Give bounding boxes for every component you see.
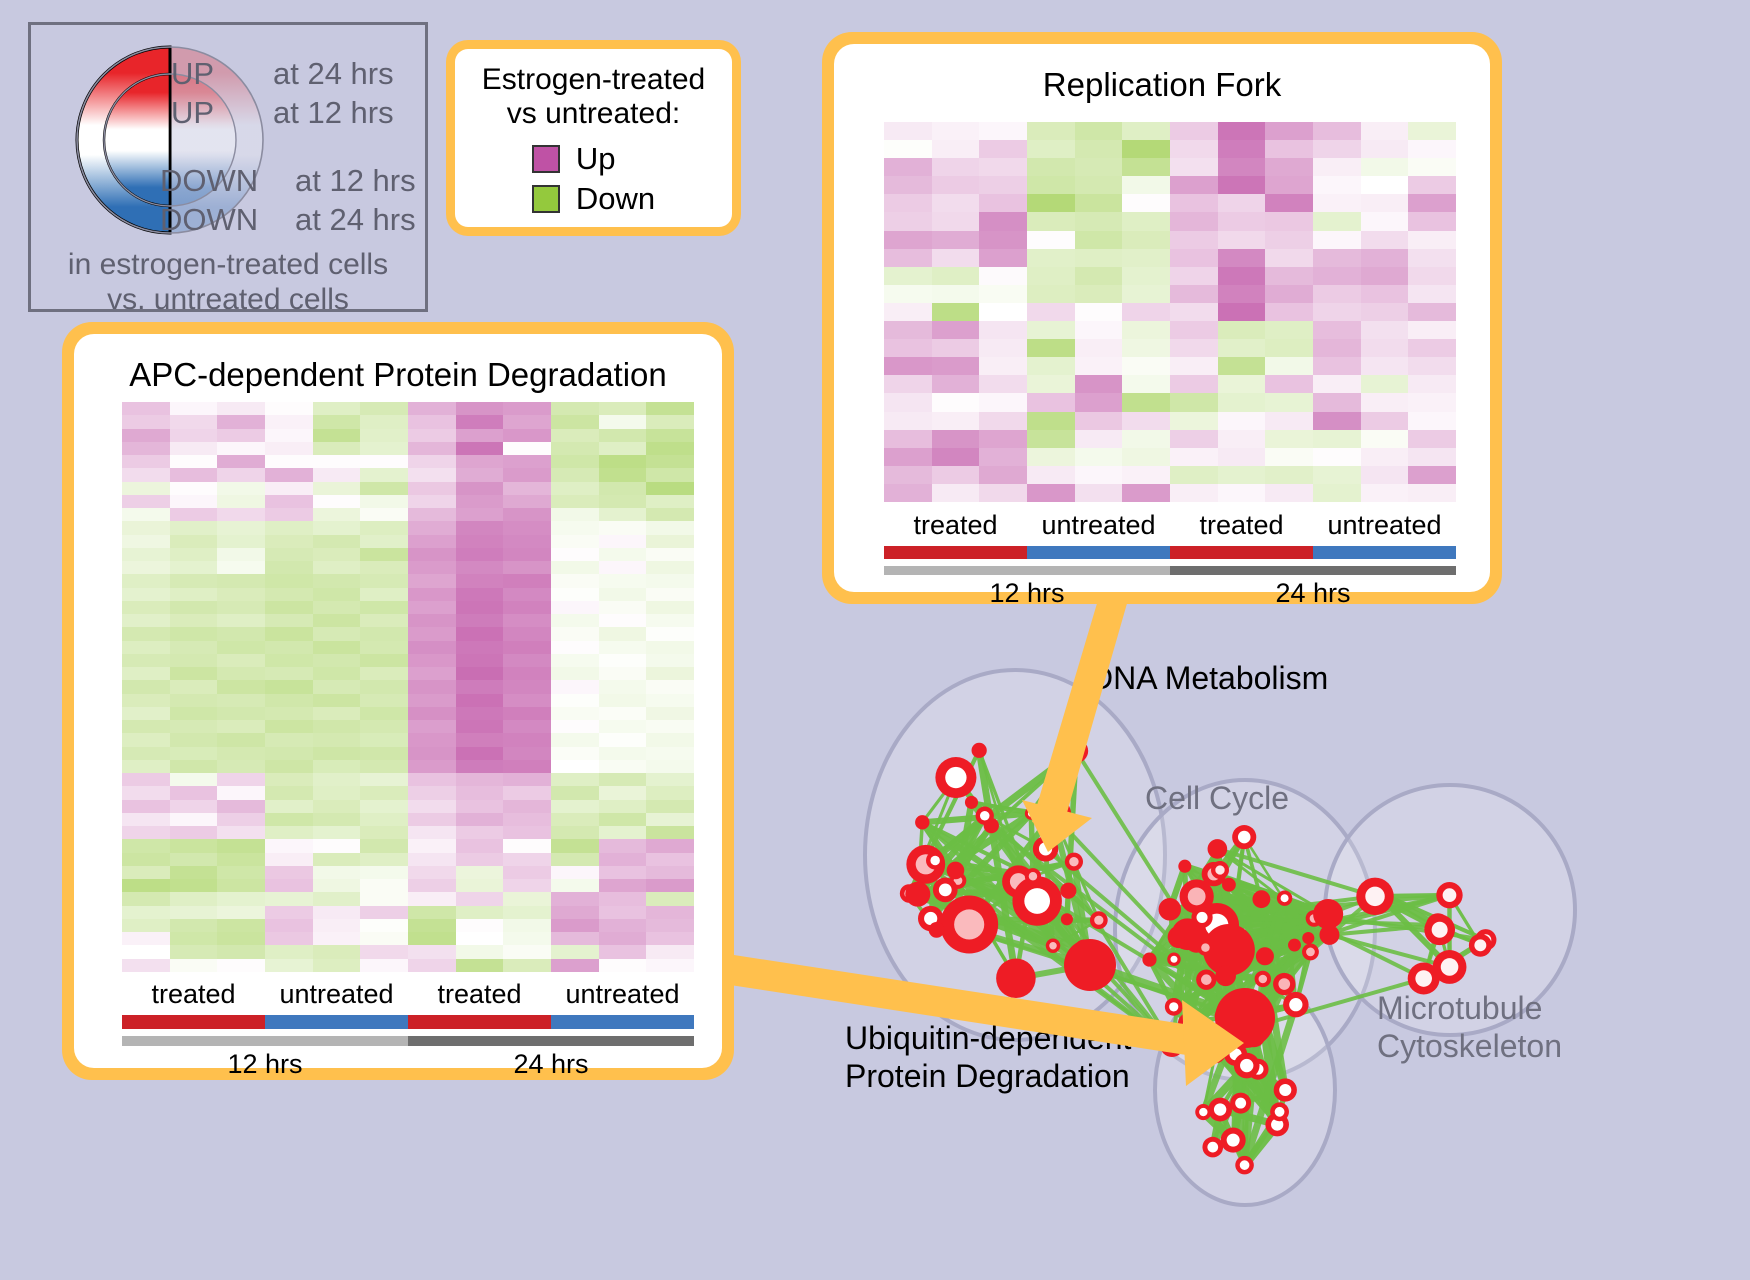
group-label-treated-12: treated	[884, 510, 1027, 541]
network-node-center	[930, 856, 940, 866]
network-node	[1256, 947, 1274, 965]
time-color-bar-replication-fork	[884, 566, 1456, 575]
cluster-label-cell-cycle: Cell Cycle	[1145, 780, 1289, 817]
network-node-center	[1281, 894, 1289, 902]
network-node-center	[1029, 872, 1037, 880]
network-node-center	[980, 811, 990, 821]
network-node	[1061, 913, 1073, 925]
network-node-center	[1024, 888, 1050, 914]
panel-apc-degradation: APC-dependent Protein Degradation treate…	[62, 322, 734, 1080]
network-node-center	[1441, 958, 1459, 976]
network-node-center	[1259, 975, 1268, 984]
caption-line-1: in estrogen-treated cells	[31, 247, 425, 282]
figure-stage: UP at 24 hrs UP at 12 hrs DOWN at 12 hrs…	[0, 0, 1750, 1279]
pathway-network-diagram: DNA Metabolism Cell Cycle Microtubule Cy…	[790, 620, 1750, 1280]
heatmap-apc	[122, 402, 694, 972]
cluster-label-dna-metabolism: DNA Metabolism	[1090, 660, 1328, 697]
network-node-center	[954, 909, 984, 939]
network-node-center	[1183, 1018, 1194, 1029]
group-color-bar-replication-fork	[884, 546, 1456, 559]
time-labels-apc: 12 hrs 24 hrs	[122, 1049, 694, 1080]
up-swatch-icon	[532, 145, 560, 173]
estrogen-legend-box: Estrogen-treated vs untreated: Up Down	[446, 40, 741, 236]
group-label-treated-12-apc: treated	[122, 979, 265, 1010]
network-node-center	[1443, 888, 1457, 902]
key-when-up-12: at 12 hrs	[273, 95, 394, 131]
network-node-center	[1306, 948, 1315, 957]
legend-title-line-1: Estrogen-treated	[482, 63, 705, 97]
caption-line-2: vs. untreated cells	[31, 282, 425, 317]
network-node-center	[1028, 810, 1035, 817]
network-node-center	[1275, 1107, 1285, 1117]
panel-replication-fork: Replication Fork treated untreated treat…	[822, 32, 1502, 604]
key-when-down-24: at 24 hrs	[295, 202, 416, 238]
network-node	[996, 958, 1036, 998]
group-label-treated-24: treated	[1170, 510, 1313, 541]
network-node	[929, 922, 945, 938]
group-labels-replication-fork: treated untreated treated untreated	[884, 510, 1456, 541]
network-node	[1288, 939, 1301, 952]
network-node-center	[1197, 912, 1208, 923]
key-state-up-24: UP	[171, 56, 214, 92]
network-node-center	[1169, 1002, 1178, 1011]
network-node	[1302, 932, 1314, 944]
network-node-center	[1069, 857, 1078, 866]
key-state-down-12: DOWN	[160, 163, 258, 199]
key-when-down-12: at 12 hrs	[295, 163, 416, 199]
network-node	[1215, 988, 1275, 1048]
time-label-24hrs-rep: 24 hrs	[1170, 578, 1456, 609]
network-node-center	[1170, 956, 1177, 963]
panel-replication-fork-inner: Replication Fork treated untreated treat…	[834, 44, 1490, 592]
group-label-untreated-12-apc: untreated	[265, 979, 408, 1010]
network-node-center	[1227, 1134, 1240, 1147]
network-node-center	[945, 767, 966, 788]
key-state-up-12: UP	[171, 95, 214, 131]
network-node-center	[1214, 1103, 1226, 1115]
network-node	[972, 743, 987, 758]
network-node-center	[1238, 831, 1251, 844]
legend-label-up: Up	[576, 141, 616, 177]
network-node-center	[1365, 887, 1384, 906]
network-node-center	[1278, 978, 1290, 990]
legend-title-line-2: vs untreated:	[507, 97, 680, 131]
network-node	[1064, 739, 1088, 763]
key-when-up-24: at 24 hrs	[273, 56, 394, 92]
network-node	[947, 862, 965, 880]
network-node-center	[939, 883, 952, 896]
network-edge	[1031, 813, 1033, 876]
network-node	[1208, 839, 1228, 859]
network-node-center	[1207, 1142, 1218, 1153]
network-node-center	[1094, 916, 1103, 925]
down-swatch-icon	[532, 185, 560, 213]
panel-title-apc: APC-dependent Protein Degradation	[74, 356, 722, 394]
network-node-center	[1240, 1160, 1250, 1170]
key-state-down-24: DOWN	[160, 202, 258, 238]
network-node	[1215, 965, 1236, 986]
time-label-12hrs-apc: 12 hrs	[122, 1049, 408, 1080]
network-node	[1160, 1033, 1184, 1057]
group-label-untreated-24: untreated	[1313, 510, 1456, 541]
network-node-center	[1235, 1098, 1246, 1109]
time-color-bar-apc	[122, 1036, 694, 1046]
group-label-untreated-12: untreated	[1027, 510, 1170, 541]
legend-label-down: Down	[576, 181, 655, 217]
color-key-box: UP at 24 hrs UP at 12 hrs DOWN at 12 hrs…	[28, 22, 428, 312]
network-node	[1319, 925, 1339, 945]
panel-title-replication-fork: Replication Fork	[834, 66, 1490, 104]
network-node	[1252, 890, 1270, 908]
network-node	[905, 882, 930, 907]
network-node-center	[1415, 970, 1432, 987]
color-key-caption: in estrogen-treated cells vs. untreated …	[31, 247, 425, 318]
network-node-center	[1188, 888, 1206, 906]
cluster-label-microtubule-cytoskeleton: Microtubule Cytoskeleton	[1377, 990, 1562, 1066]
network-node-center	[1201, 943, 1209, 951]
heatmap-replication-fork	[884, 122, 1456, 502]
network-node-center	[1215, 865, 1224, 874]
network-node-center	[1474, 939, 1486, 951]
group-color-bar-apc	[122, 1015, 694, 1029]
network-graph	[790, 620, 1750, 1280]
network-node-center	[1240, 1059, 1253, 1072]
legend-item-down: Down	[532, 181, 655, 217]
network-node-center	[1210, 1048, 1221, 1059]
network-node-center	[1289, 998, 1302, 1011]
network-node-center	[1049, 942, 1057, 950]
time-labels-replication-fork: 12 hrs 24 hrs	[884, 578, 1456, 609]
time-label-24hrs-apc: 24 hrs	[408, 1049, 694, 1080]
network-node	[1142, 952, 1156, 966]
group-label-treated-24-apc: treated	[408, 979, 551, 1010]
network-node-center	[1199, 1108, 1207, 1116]
network-node	[965, 796, 978, 809]
network-node-center	[1279, 1084, 1291, 1096]
network-node	[1313, 899, 1343, 929]
network-node	[1178, 860, 1191, 873]
network-node-center	[1039, 842, 1052, 855]
group-label-untreated-24-apc: untreated	[551, 979, 694, 1010]
network-node-center	[1432, 922, 1448, 938]
network-node	[1035, 796, 1071, 832]
estrogen-legend-inner: Estrogen-treated vs untreated: Up Down	[455, 49, 732, 227]
network-node	[915, 815, 929, 829]
time-label-12hrs-rep: 12 hrs	[884, 578, 1170, 609]
legend-item-up: Up	[532, 141, 655, 177]
network-node	[1159, 898, 1182, 921]
panel-apc-inner: APC-dependent Protein Degradation treate…	[74, 334, 722, 1068]
network-node-center	[1201, 974, 1212, 985]
network-node	[1222, 878, 1236, 892]
network-node	[1064, 939, 1116, 991]
group-labels-apc: treated untreated treated untreated	[122, 979, 694, 1010]
cluster-label-ubiquitin-degradation: Ubiquitin-dependent Protein Degradation	[845, 1020, 1131, 1096]
network-node	[1060, 883, 1076, 899]
